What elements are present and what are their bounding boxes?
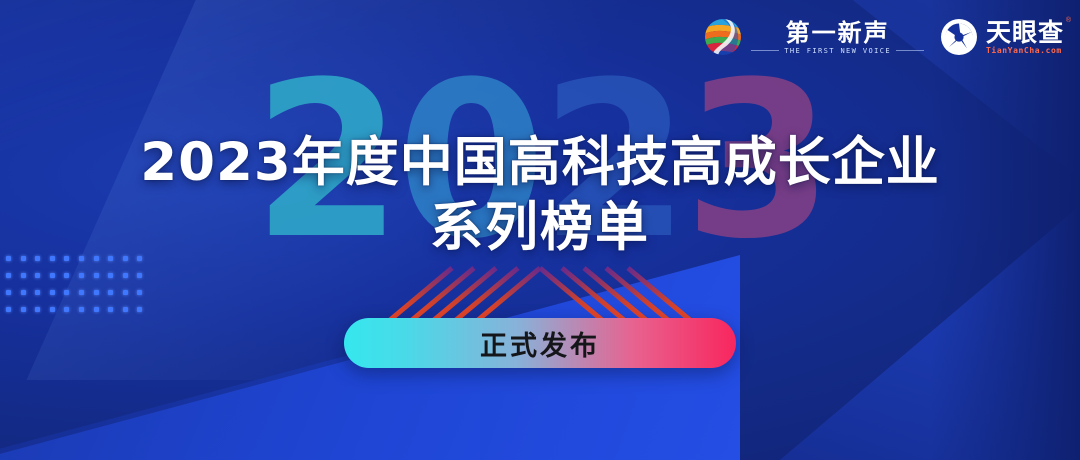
logo-tianyancha-domain: TianYanCha.com (986, 46, 1062, 55)
logo-tianyancha[interactable]: 天眼查 TianYanCha.com ® (940, 18, 1064, 56)
logo-first-voice-tagline: THE FIRST NEW VOICE (784, 47, 891, 55)
logo-first-voice-text: 第一新声 THE FIRST NEW VOICE (751, 20, 924, 55)
title-line-2: 系列榜单 (0, 196, 1080, 260)
swirl-globe-icon (703, 17, 743, 57)
aperture-eye-icon (940, 18, 978, 56)
logo-row: 第一新声 THE FIRST NEW VOICE (703, 12, 1064, 62)
logo-tianyancha-cn: 天眼查 (986, 19, 1064, 46)
logo-tianyancha-text: 天眼查 TianYanCha.com ® (986, 19, 1064, 55)
release-badge[interactable]: 正式发布 (344, 318, 736, 368)
page-title: 2023年度中国高科技高成长企业 系列榜单 (0, 132, 1080, 260)
release-badge-label: 正式发布 (480, 324, 600, 363)
tagline-divider-left (751, 50, 779, 51)
tagline-divider-right (896, 50, 924, 51)
promo-banner: 2 0 2 3 2023年度中国高科技高成长企业 系列榜单 正式发布 (0, 0, 1080, 460)
registered-mark: ® (1066, 17, 1071, 24)
logo-first-voice-cn: 第一新声 (786, 20, 890, 46)
dot-grid-decoration (6, 250, 152, 318)
title-line-1: 2023年度中国高科技高成长企业 (0, 132, 1080, 194)
logo-first-voice[interactable]: 第一新声 THE FIRST NEW VOICE (703, 17, 924, 57)
